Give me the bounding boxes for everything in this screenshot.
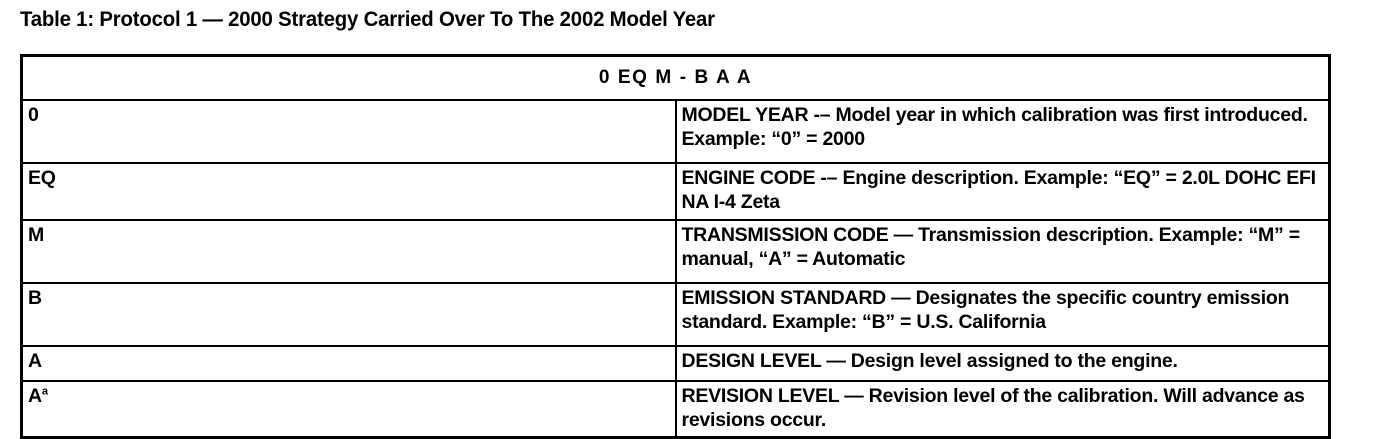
table-header-code-label: 0 EQ M - B A A bbox=[22, 56, 1330, 101]
table-row: EQ ENGINE CODE -– Engine description. Ex… bbox=[22, 163, 1330, 220]
table-row: Aa REVISION LEVEL — Revision level of th… bbox=[22, 381, 1330, 438]
table-caption: Table 1: Protocol 1 — 2000 Strategy Carr… bbox=[20, 8, 715, 32]
row-code-cell: A bbox=[22, 346, 676, 381]
row-code-cell: Aa bbox=[22, 381, 676, 438]
table-row: A DESIGN LEVEL — Design level assigned t… bbox=[22, 346, 1330, 381]
table-header-row: 0 EQ M - B A A bbox=[22, 56, 1330, 101]
row-description-cell: DESIGN LEVEL — Design level assigned to … bbox=[676, 346, 1330, 381]
table-row: B EMISSION STANDARD — Designates the spe… bbox=[22, 283, 1330, 346]
calibration-code-table: 0 EQ M - B A A 0 MODEL YEAR -– Model yea… bbox=[20, 54, 1331, 439]
row-code-cell: EQ bbox=[22, 163, 676, 220]
row-code-cell: 0 bbox=[22, 100, 676, 163]
row-description-cell: EMISSION STANDARD — Designates the speci… bbox=[676, 283, 1330, 346]
row-description-cell: ENGINE CODE -– Engine description. Examp… bbox=[676, 163, 1330, 220]
footnote-marker: a bbox=[42, 385, 48, 397]
row-code-cell: B bbox=[22, 283, 676, 346]
table-row: M TRANSMISSION CODE — Transmission descr… bbox=[22, 220, 1330, 283]
table-container: 0 EQ M - B A A 0 MODEL YEAR -– Model yea… bbox=[20, 54, 1331, 439]
row-code-cell: M bbox=[22, 220, 676, 283]
row-description-cell: REVISION LEVEL — Revision level of the c… bbox=[676, 381, 1330, 438]
row-code-text: A bbox=[28, 385, 42, 407]
document-page: Table 1: Protocol 1 — 2000 Strategy Carr… bbox=[0, 0, 1376, 420]
row-description-cell: MODEL YEAR -– Model year in which calibr… bbox=[676, 100, 1330, 163]
table-row: 0 MODEL YEAR -– Model year in which cali… bbox=[22, 100, 1330, 163]
table-body: 0 EQ M - B A A 0 MODEL YEAR -– Model yea… bbox=[22, 56, 1330, 438]
row-description-cell: TRANSMISSION CODE — Transmission descrip… bbox=[676, 220, 1330, 283]
